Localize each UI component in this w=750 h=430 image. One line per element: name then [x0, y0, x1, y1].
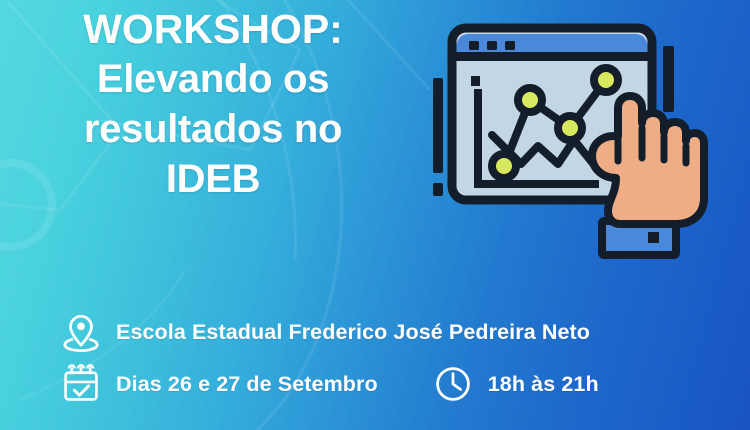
- info-row-location: Escola Estadual Frederico José Pedreira …: [58, 306, 678, 358]
- chart-point-4: [594, 68, 618, 92]
- info-time-text: 18h às 21h: [476, 372, 599, 397]
- headline-line-4: IDEB: [8, 154, 418, 204]
- chart-point-2: [518, 88, 542, 112]
- window-control-dots: [469, 41, 515, 50]
- location-pin-icon: [58, 309, 104, 355]
- info-location-text: Escola Estadual Frederico José Pedreira …: [104, 320, 590, 345]
- hand-cuff-button: [648, 232, 659, 243]
- clock-icon: [430, 361, 476, 407]
- headline-line-3: resultados no: [8, 104, 418, 154]
- analytics-dashboard-hand-illustration: [420, 8, 750, 298]
- headline-line-1: WORKSHOP:: [8, 4, 418, 54]
- poster-canvas: WORKSHOP: Elevando os resultados no IDEB…: [0, 0, 750, 430]
- decor-accent-right: [663, 46, 674, 112]
- calendar-check-icon: [58, 361, 104, 407]
- poster-headline: WORKSHOP: Elevando os resultados no IDEB: [8, 4, 418, 204]
- info-row-date-time: Dias 26 e 27 de Setembro 18h às 21h: [58, 358, 678, 410]
- chart-point-1: [492, 154, 516, 178]
- decor-accent-left: [433, 78, 443, 196]
- event-info-block: Escola Estadual Frederico José Pedreira …: [58, 306, 678, 410]
- headline-line-2: Elevando os: [8, 54, 418, 104]
- chart-point-3: [558, 116, 582, 140]
- window-corner-mark: [471, 76, 480, 86]
- info-date-text: Dias 26 e 27 de Setembro: [104, 372, 378, 397]
